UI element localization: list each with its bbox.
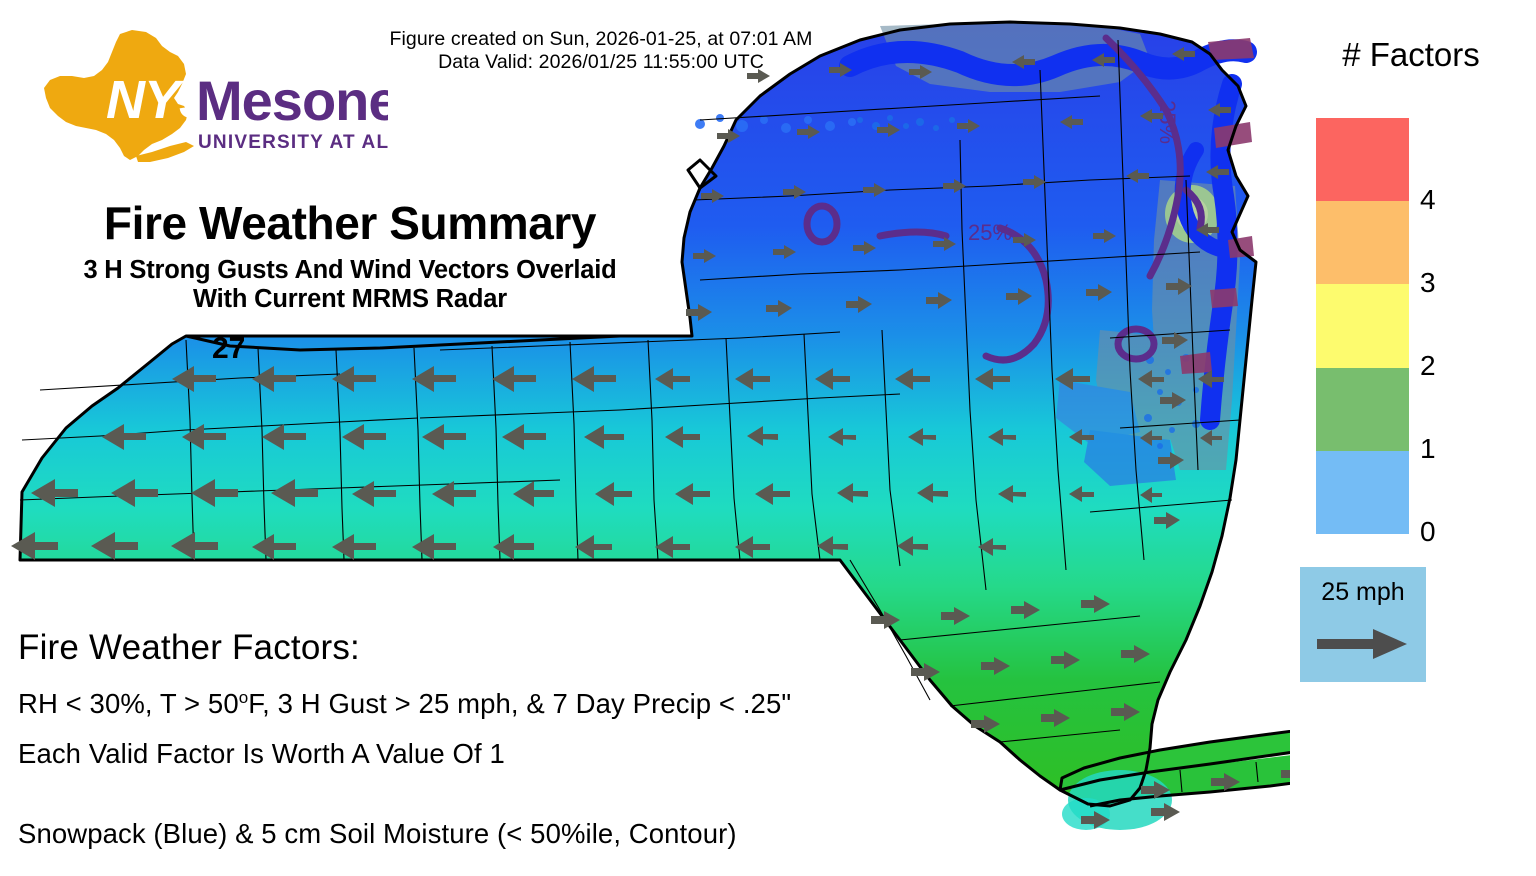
page-subtitle: 3 H Strong Gusts And Wind Vectors Overla… <box>0 256 700 314</box>
colorbar-tick-1: 1 <box>1420 435 1436 463</box>
colorbar-ticks: 4 3 2 1 0 <box>1420 118 1480 534</box>
right-arrow-icon <box>1317 627 1409 661</box>
nys-mesonet-logo: NYS Mesonet UNIVERSITY AT ALBANY <box>28 22 388 172</box>
colorbar-band-3 <box>1316 201 1409 284</box>
criteria-pre-text: RH < 30%, T > 50 <box>18 688 239 719</box>
page-title: Fire Weather Summary <box>0 196 700 250</box>
colorbar-band-2 <box>1316 284 1409 367</box>
subtitle-line-1: 3 H Strong Gusts And Wind Vectors Overla… <box>0 256 700 285</box>
figure-timestamp-block: Figure created on Sun, 2026-01-25, at 07… <box>366 28 836 74</box>
criteria-post-text: F, 3 H Gust > 25 mph, & 7 Day Precip < .… <box>248 688 791 719</box>
colorbar-band-0 <box>1316 451 1409 534</box>
contour-label-0: 25% <box>968 220 1012 245</box>
colorbar-tick-2: 2 <box>1420 352 1436 380</box>
snowpack-soil-line: Snowpack (Blue) & 5 cm Soil Moisture (< … <box>18 818 737 850</box>
colorbar-band-1 <box>1316 368 1409 451</box>
each-factor-line: Each Valid Factor Is Worth A Value Of 1 <box>18 738 505 770</box>
factors-criteria-line: RH < 30%, T > 50oF, 3 H Gust > 25 mph, &… <box>18 688 791 720</box>
colorbar-title: # Factors <box>1296 36 1526 74</box>
contour-label-1: 25% <box>1155 100 1180 144</box>
fire-weather-factors-heading: Fire Weather Factors: <box>18 628 360 668</box>
colorbar-tick-0: 0 <box>1420 518 1436 546</box>
factors-colorbar <box>1316 118 1409 534</box>
degree-symbol: o <box>239 688 249 707</box>
subtitle-line-2: With Current MRMS Radar <box>0 285 700 314</box>
data-valid-line: Data Valid: 2026/01/25 11:55:00 UTC <box>366 51 836 74</box>
colorbar-band-4 <box>1316 118 1409 201</box>
colorbar-tick-4: 4 <box>1420 186 1436 214</box>
colorbar-tick-3: 3 <box>1420 269 1436 297</box>
gust-value-label: 27 <box>212 332 245 365</box>
wind-key-label: 25 mph <box>1300 578 1426 607</box>
wind-vector-key: 25 mph <box>1300 567 1426 682</box>
logo-university-text: UNIVERSITY AT ALBANY <box>198 132 388 153</box>
logo-mesonet-text: Mesonet <box>196 69 388 132</box>
figure-created-line: Figure created on Sun, 2026-01-25, at 07… <box>366 28 836 51</box>
